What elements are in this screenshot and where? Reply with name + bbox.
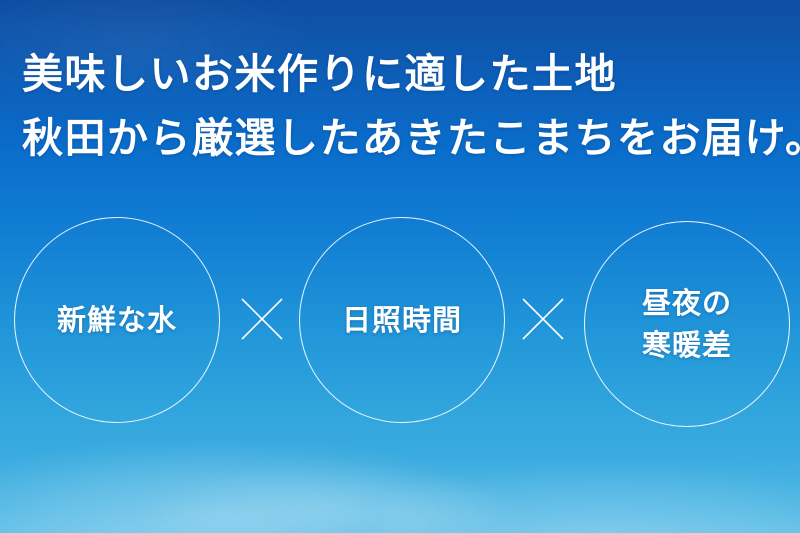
cloud-haze-left — [0, 443, 496, 533]
headline-line-2: 秋田から厳選したあきたこまちをお届け。 — [22, 106, 792, 170]
headline: 美味しいお米作りに適した土地 秋田から厳選したあきたこまちをお届け。 — [22, 42, 792, 170]
feature-circle-sunshine-hours: 日照時間 — [299, 217, 505, 423]
promo-banner: 美味しいお米作りに適した土地 秋田から厳選したあきたこまちをお届け。 新鮮な水 … — [0, 0, 800, 533]
feature-circle-fresh-water: 新鮮な水 — [14, 217, 220, 423]
feature-circle-row: 新鮮な水 日照時間 昼夜の 寒暖差 — [0, 217, 800, 429]
feature-circle-label: 昼夜の 寒暖差 — [642, 282, 732, 366]
multiply-icon — [240, 297, 284, 341]
feature-circle-label: 新鮮な水 — [57, 299, 177, 341]
cloud-haze-right — [384, 468, 800, 533]
feature-circle-label: 日照時間 — [342, 299, 462, 341]
headline-line-1: 美味しいお米作りに適した土地 — [22, 42, 792, 106]
feature-circle-temperature-range: 昼夜の 寒暖差 — [584, 221, 790, 427]
multiply-icon — [521, 297, 565, 341]
cloud-haze-center — [144, 463, 528, 527]
